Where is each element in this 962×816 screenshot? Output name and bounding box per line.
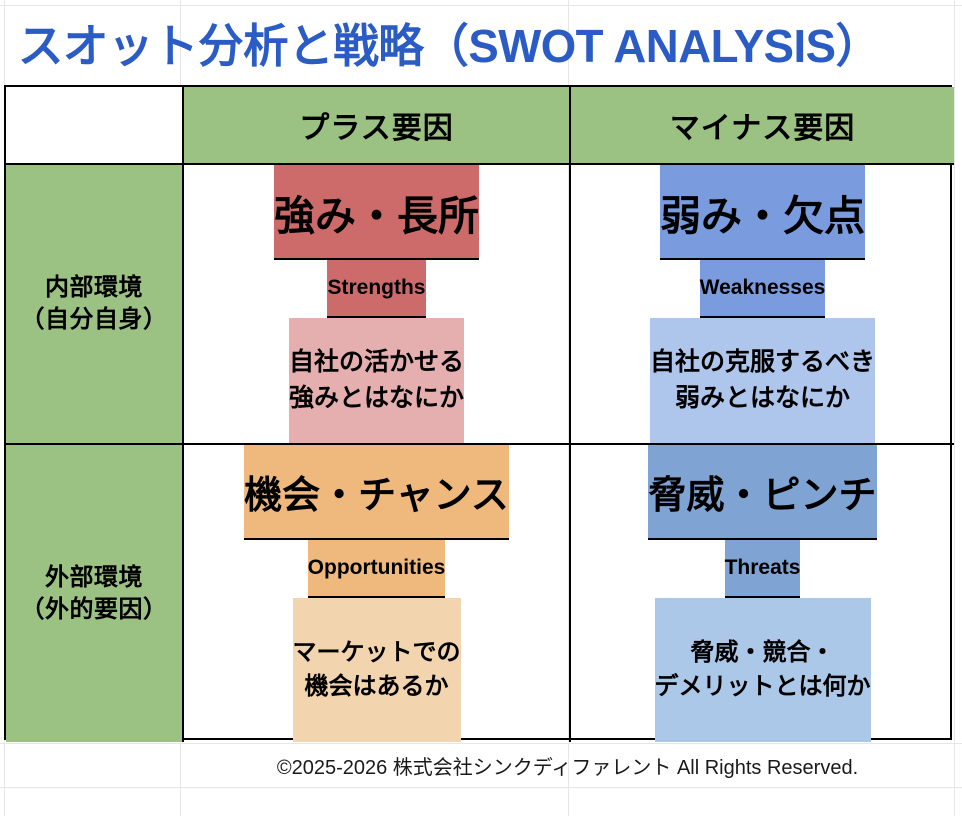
matrix-corner-cell: [6, 87, 184, 165]
strengths-description: 自社の活かせる 強みとはなにか: [289, 318, 464, 443]
threats-description: 脅威・競合・ デメリットとは何か: [655, 598, 871, 742]
page-title-text: スオット分析と戦略（SWOT ANALYSIS）: [6, 10, 881, 76]
column-header-negative: マイナス要因: [571, 87, 954, 165]
swot-page: スオット分析と戦略（SWOT ANALYSIS） プラス要因 マイナス要因 内部…: [0, 0, 962, 816]
opportunities-title: 機会・チャンス: [244, 445, 509, 540]
threats-english-label: Threats: [725, 540, 801, 598]
footer: ©2025-2026 株式会社シンクディファレント All Rights Res…: [180, 744, 955, 786]
column-header-positive: プラス要因: [184, 87, 571, 165]
row-header-internal: 内部環境 （自分自身）: [6, 165, 184, 445]
quadrant-threats: 脅威・ピンチ Threats 脅威・競合・ デメリットとは何か: [571, 445, 954, 742]
weaknesses-description: 自社の克服するべき 弱みとはなにか: [650, 318, 875, 443]
strengths-english-label: Strengths: [327, 260, 425, 318]
row-header-external: 外部環境 （外的要因）: [6, 445, 184, 742]
copyright-text: ©2025-2026 株式会社シンクディファレント All Rights Res…: [277, 751, 858, 780]
weaknesses-english-label: Weaknesses: [700, 260, 826, 318]
opportunities-english-label: Opportunities: [308, 540, 446, 598]
threats-title: 脅威・ピンチ: [648, 445, 876, 540]
opportunities-description: マーケットでの 機会はあるか: [293, 598, 461, 742]
quadrant-weaknesses: 弱み・欠点 Weaknesses 自社の克服するべき 弱みとはなにか: [571, 165, 954, 445]
quadrant-opportunities: 機会・チャンス Opportunities マーケットでの 機会はあるか: [184, 445, 571, 742]
swot-matrix: プラス要因 マイナス要因 内部環境 （自分自身） 強み・長所 Strengths…: [4, 85, 952, 740]
quadrant-strengths: 強み・長所 Strengths 自社の活かせる 強みとはなにか: [184, 165, 571, 445]
strengths-title: 強み・長所: [274, 165, 479, 260]
page-title: スオット分析と戦略（SWOT ANALYSIS）: [6, 6, 956, 80]
weaknesses-title: 弱み・欠点: [660, 165, 865, 260]
